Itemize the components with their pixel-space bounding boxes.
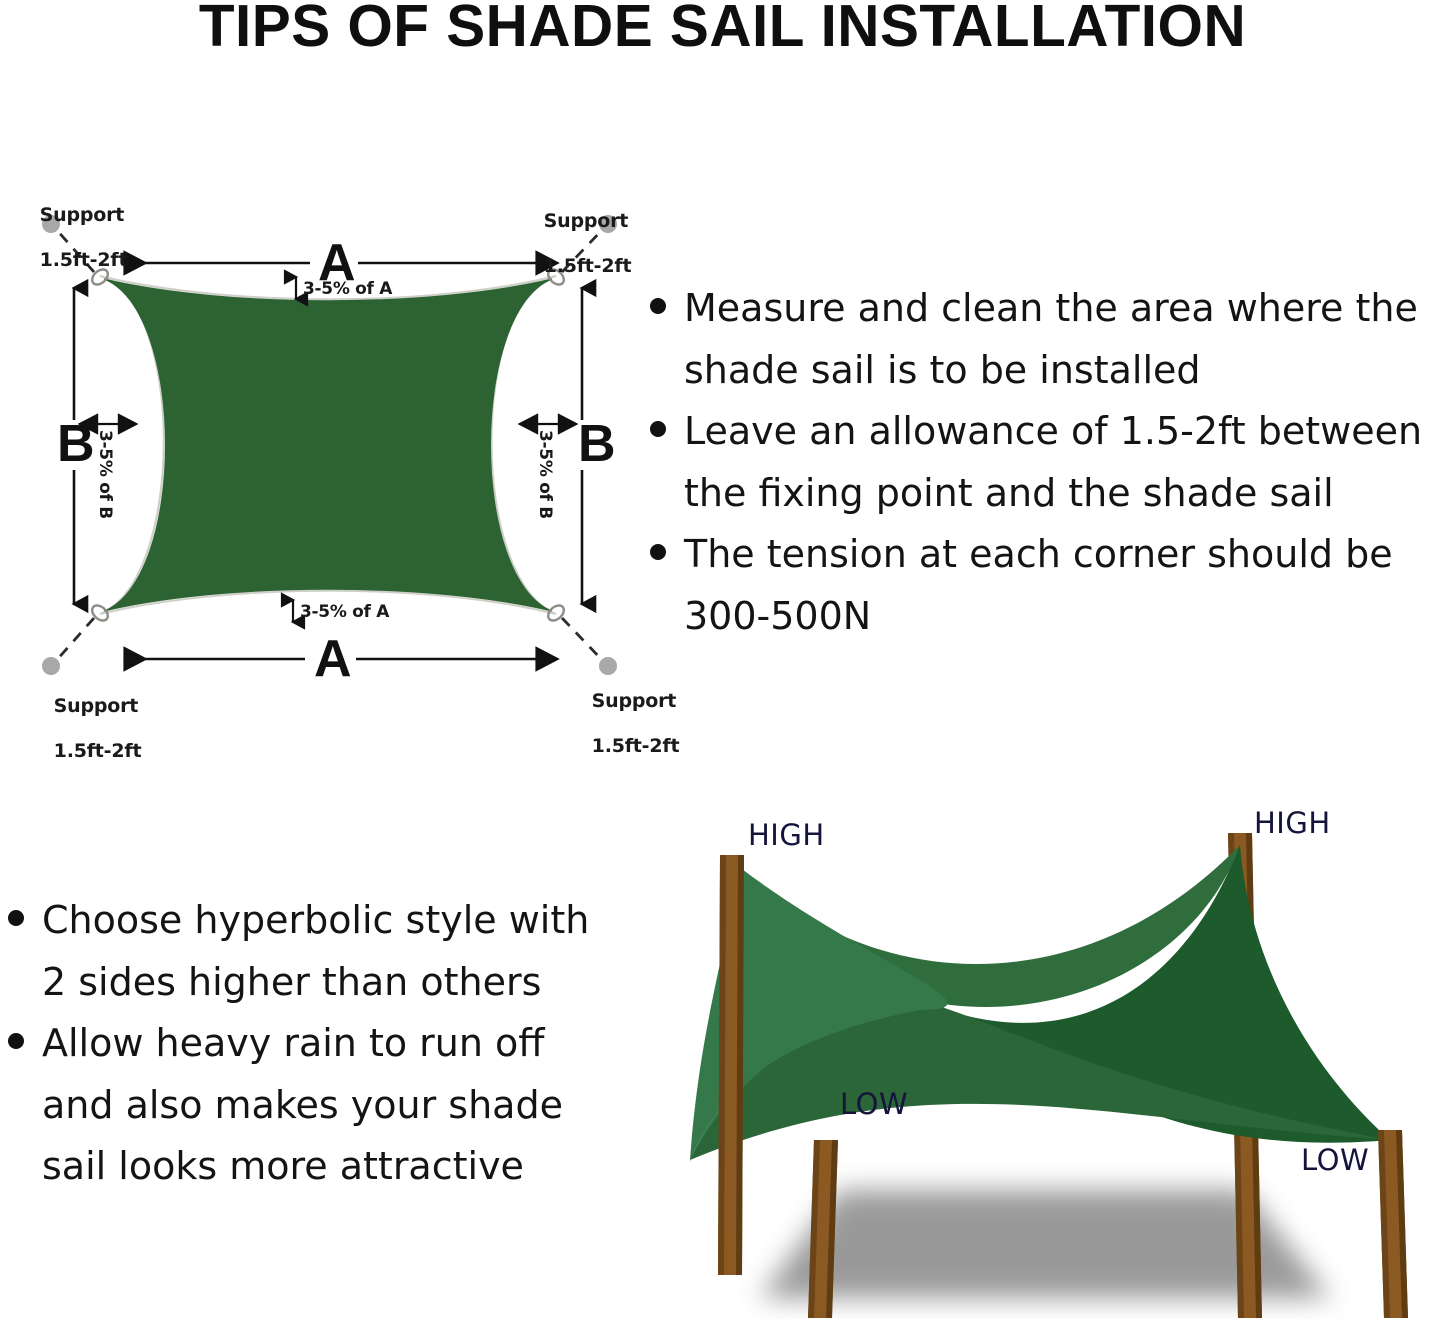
list-item-label: The tension at each corner should be 300… bbox=[684, 524, 1445, 647]
page-title: TIPS OF SHADE SAIL INSTALLATION bbox=[7, 0, 1438, 58]
list-item-label: Leave an allowance of 1.5-2ft between th… bbox=[684, 401, 1445, 524]
support-label-line2: 1.5ft-2ft bbox=[40, 249, 128, 271]
support-label-line2: 1.5ft-2ft bbox=[54, 740, 142, 762]
sail-panel-right-dark bbox=[920, 845, 1390, 1143]
pole-back-left-low bbox=[808, 1140, 838, 1318]
list-item-line: Choose hyperbolic style with bbox=[42, 898, 589, 942]
list-item-line: and also makes your shade bbox=[42, 1083, 563, 1127]
bullet-dot-icon bbox=[650, 544, 666, 560]
list-item-line: Allow heavy rain to run off bbox=[42, 1021, 544, 1065]
support-label-top-left: Support 1.5ft-2ft bbox=[14, 182, 127, 294]
bullet-dot-icon bbox=[650, 298, 666, 314]
bullet-dot-icon bbox=[8, 910, 24, 926]
list-item-line: sail looks more attractive bbox=[42, 1144, 524, 1188]
support-label-bottom-left: Support 1.5ft-2ft bbox=[28, 673, 141, 785]
list-item: Allow heavy rain to run off and also mak… bbox=[0, 1013, 620, 1198]
label-high-left: HIGH bbox=[748, 818, 825, 852]
installation-tips-list: Measure and clean the area where the sha… bbox=[650, 278, 1445, 647]
list-item-line: the fixing point and the shade sail bbox=[684, 471, 1334, 515]
list-item-line: Measure and clean the area where the bbox=[684, 286, 1418, 330]
curve-callout-left: 3-5% of B bbox=[95, 430, 115, 519]
list-item-label: Choose hyperbolic style with 2 sides hig… bbox=[42, 890, 620, 1013]
hyperbolic-style-tips-list: Choose hyperbolic style with 2 sides hig… bbox=[0, 890, 620, 1198]
label-low-right: LOW bbox=[1301, 1143, 1369, 1177]
label-low-left: LOW bbox=[840, 1087, 908, 1121]
bullet-dot-icon bbox=[650, 421, 666, 437]
sail-panel-bottom bbox=[690, 1000, 1390, 1160]
curve-callout-bottom: 3-5% of A bbox=[300, 602, 389, 622]
list-item-line: shade sail is to be installed bbox=[684, 348, 1201, 392]
support-label-bottom-right: Support 1.5ft-2ft bbox=[566, 668, 679, 780]
dimension-label-b-right: B bbox=[578, 418, 616, 470]
support-label-top-right: Support 1.5ft-2ft bbox=[518, 188, 631, 300]
list-item: Choose hyperbolic style with 2 sides hig… bbox=[0, 890, 620, 1013]
support-label-line1: Support bbox=[592, 690, 677, 712]
pole-front-left-high bbox=[718, 855, 744, 1275]
dimension-label-b-left: B bbox=[57, 418, 95, 470]
list-item-line: 300-500N bbox=[684, 594, 871, 638]
support-label-line1: Support bbox=[54, 695, 139, 717]
infographic-page: TIPS OF SHADE SAIL INSTALLATION bbox=[0, 0, 1445, 1319]
sail-panel-top-band bbox=[738, 845, 1240, 1007]
ground-shadow bbox=[760, 1190, 1330, 1298]
list-item: Measure and clean the area where the sha… bbox=[650, 278, 1445, 401]
dimension-label-a-bottom: A bbox=[314, 633, 352, 685]
list-item-label: Measure and clean the area where the sha… bbox=[684, 278, 1445, 401]
list-item-label: Allow heavy rain to run off and also mak… bbox=[42, 1013, 620, 1198]
curve-callout-right: 3-5% of B bbox=[535, 430, 555, 519]
support-label-line2: 1.5ft-2ft bbox=[592, 735, 680, 757]
curve-callout-top: 3-5% of A bbox=[303, 279, 392, 299]
list-item-line: The tension at each corner should be bbox=[684, 532, 1393, 576]
list-item-line: 2 sides higher than others bbox=[42, 960, 541, 1004]
support-label-line1: Support bbox=[544, 210, 629, 232]
list-item: Leave an allowance of 1.5-2ft between th… bbox=[650, 401, 1445, 524]
support-label-line2: 1.5ft-2ft bbox=[544, 255, 632, 277]
label-high-right: HIGH bbox=[1254, 806, 1331, 840]
support-label-line1: Support bbox=[40, 204, 125, 226]
bullet-dot-icon bbox=[8, 1033, 24, 1049]
pole-front-right-low bbox=[1378, 1130, 1408, 1318]
list-item: The tension at each corner should be 300… bbox=[650, 524, 1445, 647]
list-item-line: Leave an allowance of 1.5-2ft between bbox=[684, 409, 1422, 453]
pole-back-right-high bbox=[1228, 833, 1262, 1318]
